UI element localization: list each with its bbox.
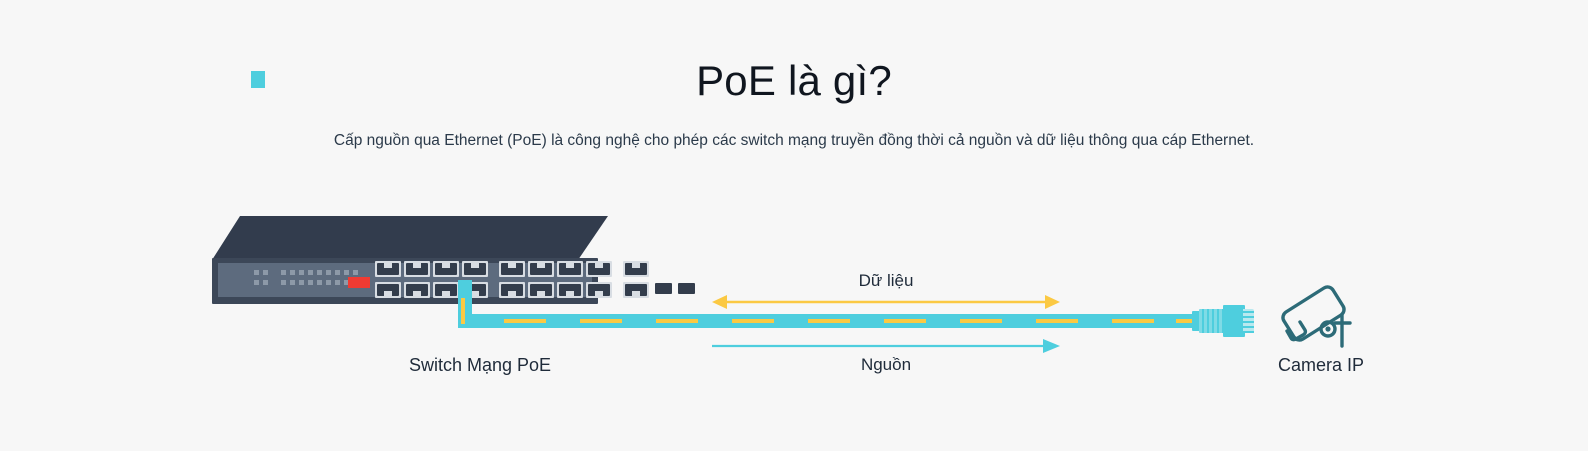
rj45-contact-block [1243,309,1254,333]
led-row-top [254,270,366,275]
cable-vertical-segment [458,280,472,328]
rj45-uplink-port[interactable] [623,282,649,298]
switch-port-bank [375,261,575,299]
data-arrow-label: Dữ liệu [712,271,1060,291]
rj45-pin [1243,331,1254,333]
cable-conductor-dash [504,319,546,323]
rj45-port[interactable] [586,282,612,298]
port-group-2 [499,261,615,299]
cable-conductor-dash [580,319,622,323]
rj45-jack-icon [588,263,610,275]
rj45-jack-icon [559,284,581,296]
rj45-port[interactable] [404,282,430,298]
rj45-rib [1217,309,1219,333]
status-led [326,270,331,275]
rj45-strain-relief [1199,309,1225,333]
status-led [281,270,286,275]
cable-conductor-dash [732,319,774,323]
cable-conductor-dash [1036,319,1078,323]
status-led [308,270,313,275]
sfp-slot[interactable] [678,283,695,294]
status-led [317,270,322,275]
status-led [344,270,349,275]
rj45-port[interactable] [375,261,401,277]
rj45-jack-icon [501,263,523,275]
cable-conductor-dash [1112,319,1154,323]
cctv-camera-icon [1272,282,1364,348]
rj45-port[interactable] [404,261,430,277]
rj45-pin [1243,326,1254,328]
cable-conductor-dash [656,319,698,323]
status-led [281,280,286,285]
rj45-jack-icon [377,263,399,275]
rj45-pin [1243,311,1254,313]
poe-diagram: Dữ liệu Nguồn Switch Mạng PoE Camera IP [0,0,1588,451]
rj45-pin [1243,316,1254,318]
rj45-port[interactable] [586,261,612,277]
rj45-jack-icon [501,284,523,296]
status-led [335,280,340,285]
status-led [326,280,331,285]
rj45-rib [1207,309,1209,333]
status-led [263,280,268,285]
rj45-port[interactable] [528,282,554,298]
status-led [290,280,295,285]
rj45-jack-icon [559,263,581,275]
cable-horizontal-segment [470,314,1198,328]
power-arrow [712,338,1060,354]
status-led [335,270,340,275]
camera-label: Camera IP [1216,355,1426,376]
rj45-jack-icon [435,263,457,275]
rj45-jack-icon [530,263,552,275]
rj45-jack-icon [406,263,428,275]
rj45-port[interactable] [462,261,488,277]
rj45-port[interactable] [557,261,583,277]
rj45-jack-icon [406,284,428,296]
rj45-port[interactable] [433,282,459,298]
rj45-jack-icon [588,284,610,296]
poe-switch-illustration [212,212,608,304]
rj45-port-active[interactable] [499,282,525,298]
status-led [254,270,259,275]
port-group-1 [375,261,491,299]
cable-conductor-dash [808,319,850,323]
connected-port-highlight [251,71,265,88]
rj45-rib [1212,309,1214,333]
rj45-jack-icon [625,263,647,275]
rj45-uplink-port[interactable] [623,261,649,277]
port-group-uplink [623,261,713,299]
rj45-jack-icon [625,284,647,296]
rj45-jack-icon [435,284,457,296]
status-led [254,280,259,285]
power-led-indicator [348,277,370,288]
status-led [263,270,268,275]
rj45-jack-icon [530,284,552,296]
rj45-pin [1243,321,1254,323]
status-led [308,280,313,285]
rj45-port[interactable] [433,261,459,277]
rj45-rib [1202,309,1204,333]
status-led [353,270,358,275]
status-led [299,280,304,285]
rj45-head [1223,305,1245,337]
data-arrow [712,293,1060,311]
status-led [299,270,304,275]
status-led [290,270,295,275]
rj45-jack-icon [464,263,486,275]
rj45-jack-icon [377,284,399,296]
cable-conductor-dash [960,319,1002,323]
power-arrow-label: Nguồn [712,355,1060,375]
status-led [317,280,322,285]
cable-conductor-dash [884,319,926,323]
rj45-port[interactable] [499,261,525,277]
rj45-connector-icon [1192,305,1252,337]
switch-top-panel [212,212,608,262]
rj45-port[interactable] [375,282,401,298]
switch-label: Switch Mạng PoE [330,355,630,376]
rj45-port[interactable] [528,261,554,277]
cable-conductor [461,298,465,324]
sfp-slot[interactable] [655,283,672,294]
rj45-port[interactable] [557,282,583,298]
